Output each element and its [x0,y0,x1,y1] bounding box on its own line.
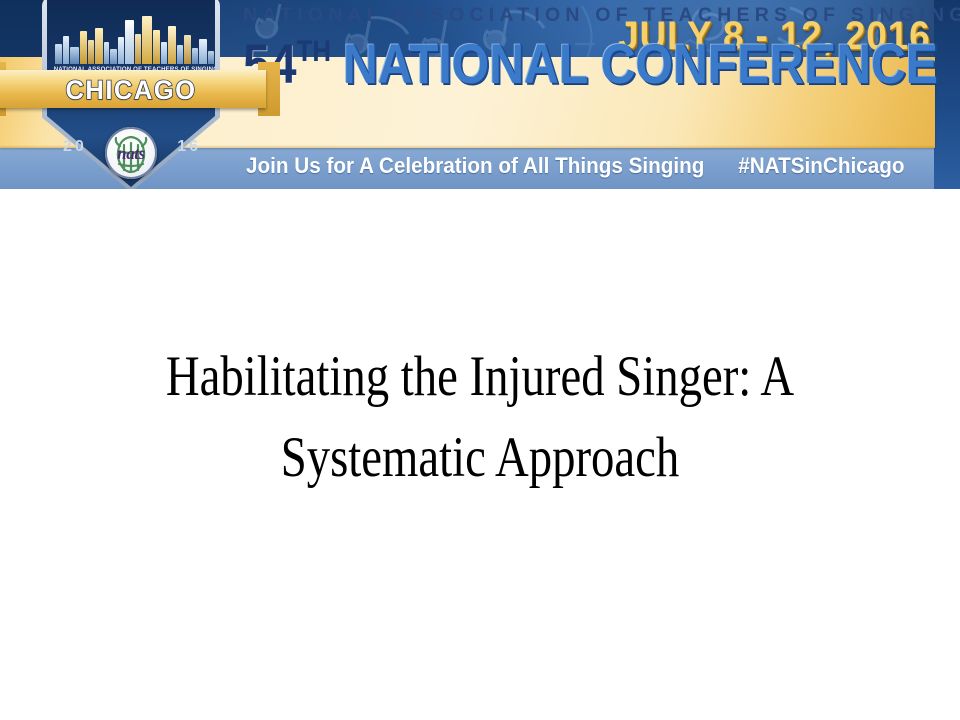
title-block: Habilitating the Injured Singer: A Syste… [48,336,912,498]
page-title: Habilitating the Injured Singer: A Syste… [126,336,834,498]
banner-tagline: Join Us for A Celebration of All Things … [246,153,704,178]
chicago-shield-badge: NATIONAL ASSOCIATION OF TEACHERS OF SING… [42,0,220,189]
slide-canvas: JULY 8 - 12, 2016 NATIONAL ASSOCIATION O… [0,0,960,720]
conference-ordinal-suffix: TH [297,35,331,68]
badge-year-left: 20 [63,138,87,156]
chicago-skyline-icon [53,14,209,64]
nats-wordmark: nats [105,144,157,164]
conference-banner: JULY 8 - 12, 2016 NATIONAL ASSOCIATION O… [0,0,960,189]
chicago-label: CHICAGO [46,75,215,106]
banner-tagline-row: Join Us for A Celebration of All Things … [246,153,904,179]
conference-title: 54THNATIONAL CONFERENCE [243,22,853,94]
conference-name-text: NATIONAL CONFERENCE [343,32,938,95]
nats-seal: nats [105,127,157,179]
banner-right-navy-column [934,0,960,189]
badge-year-right: 16 [177,138,201,156]
banner-hashtag: #NATSinChicago [738,153,904,178]
